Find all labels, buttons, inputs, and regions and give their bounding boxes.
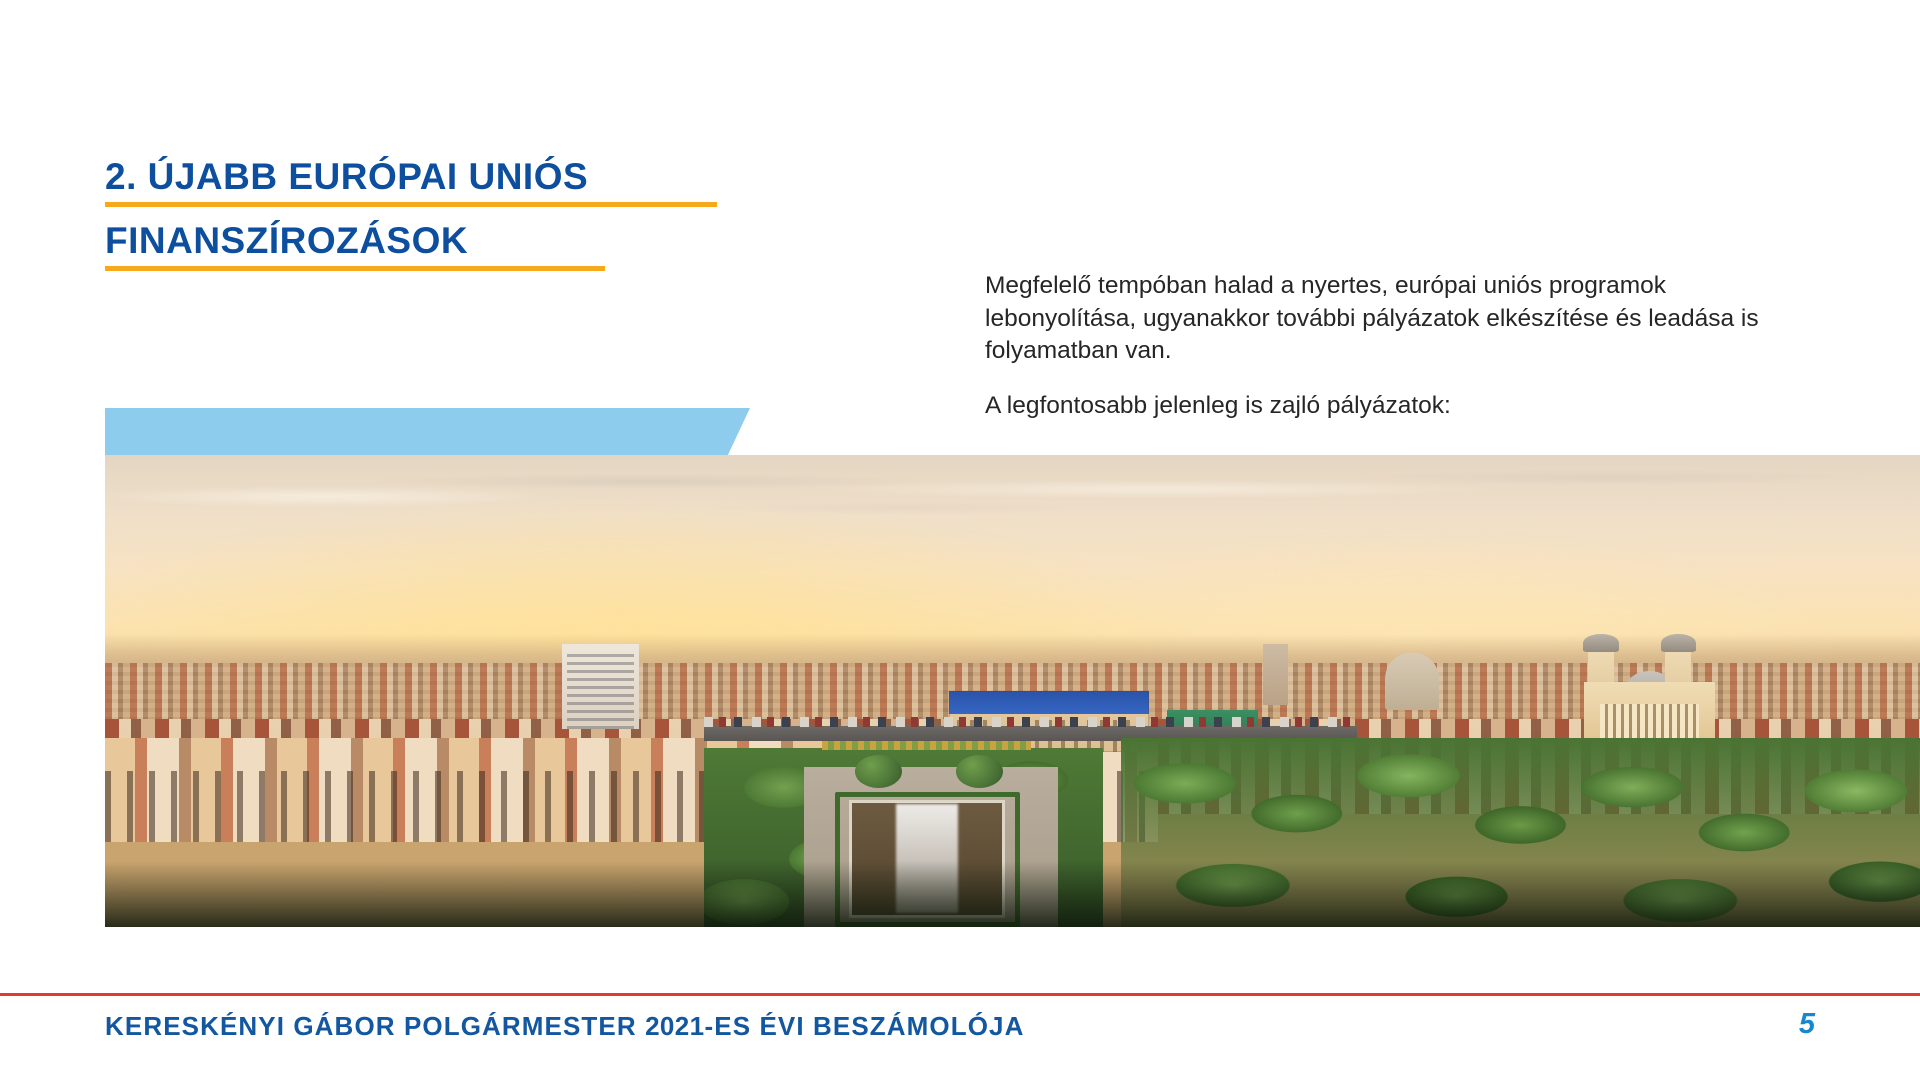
footer-divider: [0, 993, 1920, 996]
photo-flowerbed: [822, 741, 1031, 750]
photo-water-tower: [1263, 644, 1288, 705]
city-panorama-photo: [105, 455, 1920, 927]
photo-topiary-right: [956, 755, 1003, 788]
photo-canopy-shadow: [105, 861, 1920, 927]
footer-text-after: -ES ÉVI BESZÁMOLÓJA: [705, 1011, 1025, 1041]
photo-round-tower: [1385, 653, 1439, 710]
slide-root: 2. ÚJABB EURÓPAI UNIÓS FINANSZÍROZÁSOK M…: [0, 0, 1920, 1080]
footer-text-before: KERESKÉNYI GÁBOR POLGÁRMESTER: [105, 1011, 645, 1041]
page-title-line-2: FINANSZÍROZÁSOK: [105, 222, 605, 271]
photo-clouds: [105, 455, 1920, 644]
body-paragraph-1: Megfelelő tempóban halad a nyertes, euró…: [985, 270, 1820, 368]
body-copy: Megfelelő tempóban halad a nyertes, euró…: [985, 270, 1820, 422]
page-number: 5: [1799, 1008, 1815, 1041]
footer-year: 2021: [645, 1011, 704, 1041]
blue-accent-banner: [105, 408, 750, 456]
body-paragraph-2: A legfontosabb jelenleg is zajló pályáza…: [985, 390, 1820, 423]
footer-title: KERESKÉNYI GÁBOR POLGÁRMESTER 2021-ES ÉV…: [105, 1011, 1024, 1042]
photo-topiary-left: [855, 755, 902, 788]
page-title-line-1: 2. ÚJABB EURÓPAI UNIÓS: [105, 158, 717, 207]
page-title: 2. ÚJABB EURÓPAI UNIÓS FINANSZÍROZÁSOK: [105, 158, 745, 271]
photo-cathedral: [1584, 646, 1715, 740]
photo-parked-cars: [704, 717, 1357, 727]
photo-cathedral-body: [1584, 682, 1715, 741]
photo-highrise-block: [562, 644, 638, 729]
